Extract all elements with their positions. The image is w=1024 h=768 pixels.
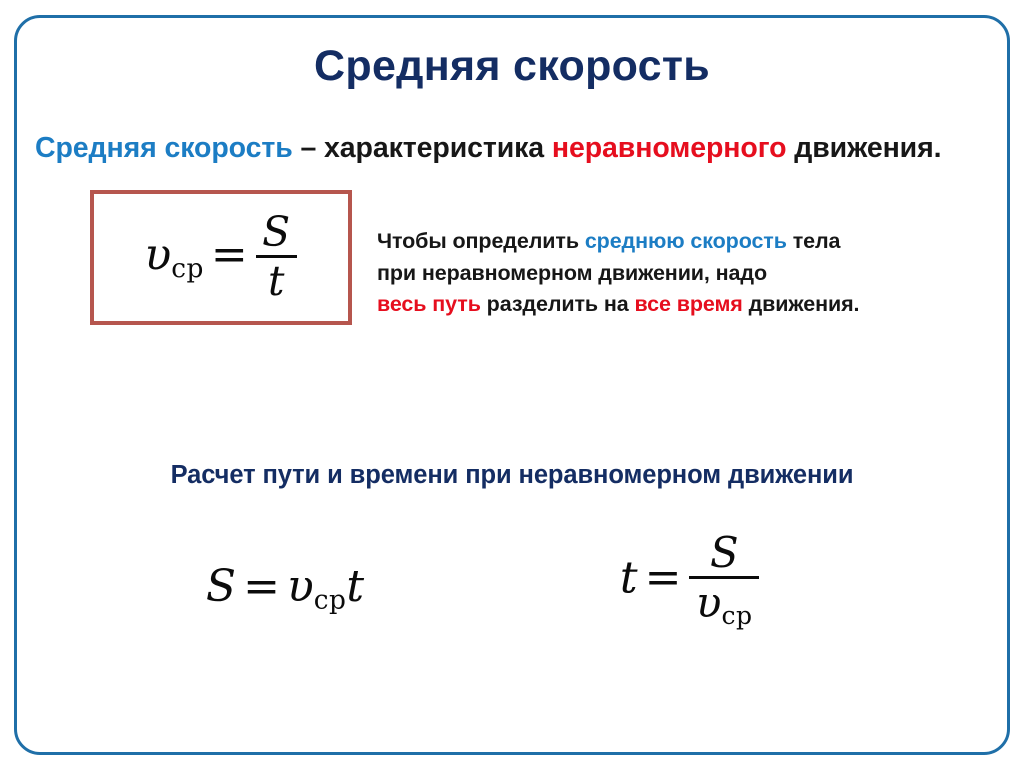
- formula-variable-v: υ: [144, 229, 171, 280]
- path-formula-subscript-sr: ср: [314, 584, 347, 615]
- slide-border-frame: [14, 15, 1010, 755]
- explanation-line-3: весь путь разделить на все время движени…: [377, 289, 977, 321]
- explanation-line-2: при неравномерном движении, надо: [377, 258, 977, 290]
- page-title: Средняя скорость: [0, 42, 1024, 91]
- definition-highlight: неравномерного: [552, 132, 787, 164]
- explanation-line-1-part-a: Чтобы определить: [377, 229, 585, 253]
- formula-numerator-s: S: [255, 212, 298, 253]
- definition-middle: характеристика: [324, 132, 552, 164]
- time-formula: t=Sυср: [560, 533, 820, 629]
- average-speed-formula: υср=St: [144, 213, 297, 303]
- time-formula-equals-sign: =: [638, 552, 689, 603]
- explanation-line-1-part-c: тела: [787, 229, 841, 253]
- time-formula-numerator-s: S: [689, 532, 761, 574]
- path-formula-variable-v: υ: [287, 561, 314, 612]
- time-formula-denominator-sub: ср: [721, 601, 752, 630]
- slide-canvas: Средняя скорость Средняя скорость – хара…: [0, 0, 1024, 768]
- explanation-line-3-part-d: движения.: [743, 292, 860, 316]
- formula-denominator-t: t: [255, 261, 298, 302]
- time-formula-denominator-v: υ: [696, 578, 721, 627]
- explanation-line-1: Чтобы определить среднюю скорость тела: [377, 226, 977, 258]
- formula-equals-sign: =: [204, 229, 255, 280]
- time-formula-denominator: υср: [689, 582, 761, 628]
- definition-term: Средняя скорость: [35, 132, 293, 164]
- formula-fraction: St: [255, 212, 298, 302]
- explanation-line-3-part-b: разделить на: [481, 292, 635, 316]
- explanation-text: Чтобы определить среднюю скорость тела п…: [377, 226, 977, 321]
- definition-line: Средняя скорость – характеристика неравн…: [35, 132, 995, 165]
- path-formula: S=υсрt: [155, 565, 415, 614]
- explanation-line-1-highlight: среднюю скорость: [585, 229, 787, 253]
- path-formula-equals-sign: =: [236, 561, 287, 612]
- definition-tail: движения.: [786, 132, 941, 164]
- explanation-line-3-highlight-c: все время: [635, 292, 743, 316]
- time-formula-fraction: Sυср: [689, 532, 761, 628]
- path-formula-lhs-s: S: [206, 561, 236, 612]
- average-speed-formula-box: υср=St: [90, 190, 352, 325]
- definition-dash: –: [293, 132, 324, 164]
- path-formula-variable-t: t: [346, 561, 364, 612]
- time-formula-lhs-t: t: [620, 552, 638, 603]
- explanation-line-3-highlight-a: весь путь: [377, 292, 481, 316]
- formula-subscript-sr: ср: [171, 252, 204, 283]
- section-heading: Расчет пути и времени при неравномерном …: [0, 461, 1024, 490]
